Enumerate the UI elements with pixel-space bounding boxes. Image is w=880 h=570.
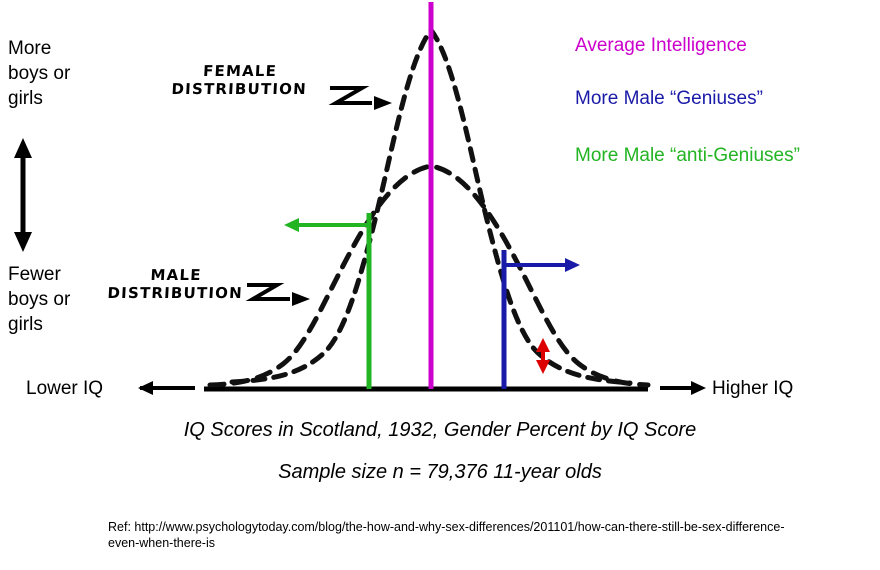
male-distribution-callout: MALE DISTRIBUTION bbox=[107, 266, 244, 302]
male-callout-pointer-icon bbox=[247, 285, 310, 306]
y-axis-double-arrow-icon bbox=[14, 138, 32, 252]
figure-canvas: More boys or girls Fewer boys or girls L… bbox=[0, 0, 880, 570]
lower-iq-arrow-icon bbox=[138, 381, 195, 395]
figure-reference: Ref: http://www.psychologytoday.com/blog… bbox=[108, 519, 808, 551]
y-axis-top-label: More boys or girls bbox=[8, 36, 70, 111]
x-axis-right-label: Higher IQ bbox=[712, 378, 793, 400]
legend-item-more-male-anti-geniuses: More Male “anti-Geniuses” bbox=[575, 145, 800, 167]
figure-caption-title: IQ Scores in Scotland, 1932, Gender Perc… bbox=[0, 419, 880, 442]
figure-caption-sample-size: Sample size n = 79,376 11-year olds bbox=[0, 461, 880, 484]
y-axis-bottom-label: Fewer boys or girls bbox=[8, 262, 70, 337]
female-callout-pointer-icon bbox=[330, 88, 392, 110]
higher-iq-arrow-icon bbox=[660, 381, 706, 395]
legend-item-average-intelligence: Average Intelligence bbox=[575, 35, 747, 57]
female-distribution-callout: FEMALE DISTRIBUTION bbox=[171, 62, 308, 98]
legend-item-more-male-geniuses: More Male “Geniuses” bbox=[575, 88, 763, 110]
x-axis-left-label: Lower IQ bbox=[26, 378, 103, 400]
